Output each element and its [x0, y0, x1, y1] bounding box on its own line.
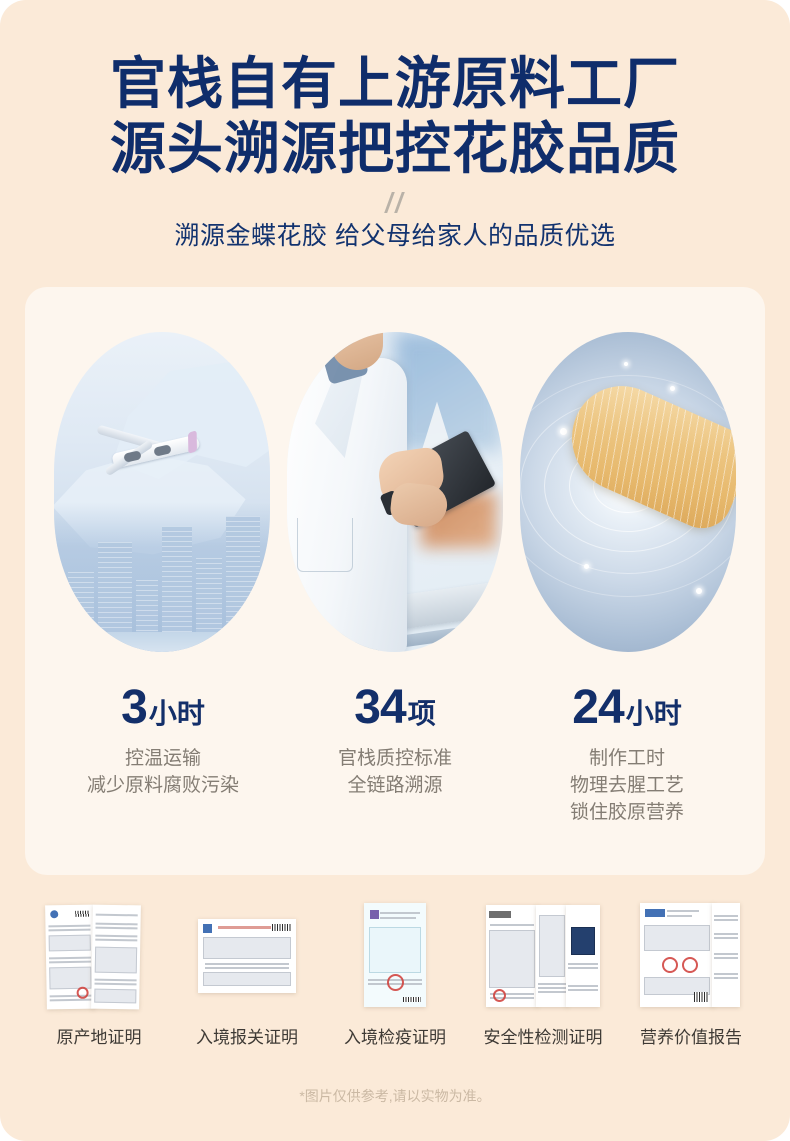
- certificate-label: 入境检疫证明: [321, 1023, 469, 1048]
- sparkle-icon: [624, 362, 628, 366]
- stat-desc-line: 控温运输: [47, 746, 279, 773]
- certificate-thumbnail[interactable]: [484, 893, 602, 1013]
- lab-coat-pocket: [297, 518, 353, 572]
- stat-value: 24小时: [511, 684, 743, 732]
- stat-desc-line: 锁住胶原营养: [511, 800, 743, 827]
- certificates-row: 原产地证明 入境报关证明: [25, 893, 765, 1048]
- fish-maw-water-photo: [520, 332, 736, 652]
- building-icon: [98, 542, 132, 634]
- document-page-side: [712, 903, 740, 1007]
- disclaimer-text: *图片仅供参考,请以实物为准。: [0, 1086, 790, 1106]
- certificate-item-nutrition[interactable]: 营养价值报告: [617, 893, 765, 1048]
- stat-number: 3: [121, 681, 147, 734]
- certificate-label: 安全性检测证明: [469, 1023, 617, 1048]
- sparkle-icon: [584, 564, 589, 569]
- lab-technician-photo: [287, 332, 503, 652]
- stat-description: 控温运输 减少原料腐败污染: [47, 746, 279, 800]
- document-page-photo: [566, 905, 600, 1007]
- stat-item-quality-standards: 34项 官栈质控标准 全链路溯源: [279, 684, 511, 827]
- stat-unit: 小时: [149, 698, 205, 729]
- stat-value: 34项: [279, 684, 511, 732]
- stat-number: 34: [354, 681, 405, 734]
- document-page-left: [45, 905, 95, 1010]
- stats-row: 3小时 控温运输 减少原料腐败污染 34项 官栈质控标准 全链路溯源 24小: [25, 652, 765, 827]
- headline-line-1: 官栈自有上游原料工厂: [0, 52, 790, 117]
- highlights-card: 3小时 控温运输 减少原料腐败污染 34项 官栈质控标准 全链路溯源 24小: [25, 287, 765, 875]
- building-icon: [196, 558, 222, 634]
- photo-gallery: [25, 287, 765, 652]
- certificate-thumbnail[interactable]: [40, 893, 158, 1013]
- header-section: 官栈自有上游原料工厂 源头溯源把控花胶品质 溯源金蝶花胶 给父母给家人的品质优选: [0, 0, 790, 252]
- certificate-thumbnail[interactable]: [188, 893, 306, 1013]
- stat-unit: 小时: [626, 698, 682, 729]
- sparkle-icon: [560, 428, 567, 435]
- building-icon: [68, 572, 94, 634]
- building-icon: [226, 516, 260, 634]
- water-band: [54, 632, 270, 652]
- stat-item-production-hours: 24小时 制作工时 物理去腥工艺 锁住胶原营养: [511, 684, 743, 827]
- stat-desc-line: 制作工时: [511, 746, 743, 773]
- airplane-icon: [80, 428, 204, 474]
- stat-desc-line: 物理去腥工艺: [511, 773, 743, 800]
- certificate-label: 原产地证明: [25, 1023, 173, 1048]
- document-page-data: [536, 905, 568, 1007]
- building-icon: [136, 580, 158, 634]
- stat-number: 24: [572, 681, 623, 734]
- sparkle-icon: [670, 386, 675, 391]
- stat-desc-line: 全链路溯源: [279, 773, 511, 800]
- page-subtitle: 溯源金蝶花胶 给父母给家人的品质优选: [0, 216, 790, 252]
- certificate-label: 入境报关证明: [173, 1023, 321, 1048]
- document-page: [364, 903, 426, 1007]
- product-detail-page: 官栈自有上游原料工厂 源头溯源把控花胶品质 溯源金蝶花胶 给父母给家人的品质优选: [0, 0, 790, 1141]
- stat-desc-line: 减少原料腐败污染: [47, 773, 279, 800]
- certificate-item-origin[interactable]: 原产地证明: [25, 893, 173, 1048]
- headline-line-2: 源头溯源把控花胶品质: [0, 117, 790, 182]
- certificate-label: 营养价值报告: [617, 1023, 765, 1048]
- stat-description: 官栈质控标准 全链路溯源: [279, 746, 511, 800]
- document-page-sgs: [486, 905, 538, 1007]
- certificate-item-safety[interactable]: 安全性检测证明: [469, 893, 617, 1048]
- background-machinery-blur: [395, 332, 503, 452]
- double-slash-divider-icon: [375, 192, 415, 214]
- building-icon: [162, 526, 192, 634]
- document-page: [198, 919, 296, 993]
- certificate-thumbnail[interactable]: [336, 893, 454, 1013]
- stat-description: 制作工时 物理去腥工艺 锁住胶原营养: [511, 746, 743, 827]
- certificate-item-customs[interactable]: 入境报关证明: [173, 893, 321, 1048]
- stat-item-transport: 3小时 控温运输 减少原料腐败污染: [47, 684, 279, 827]
- document-page: [640, 903, 714, 1007]
- sparkle-icon: [696, 588, 702, 594]
- stat-value: 3小时: [47, 684, 279, 732]
- document-page-right: [91, 905, 141, 1010]
- certificate-thumbnail[interactable]: [632, 893, 750, 1013]
- stat-desc-line: 官栈质控标准: [279, 746, 511, 773]
- stat-unit: 项: [408, 698, 436, 729]
- page-title: 官栈自有上游原料工厂 源头溯源把控花胶品质: [0, 52, 790, 182]
- certificate-item-quarantine[interactable]: 入境检疫证明: [321, 893, 469, 1048]
- airplane-skyline-photo: [54, 332, 270, 652]
